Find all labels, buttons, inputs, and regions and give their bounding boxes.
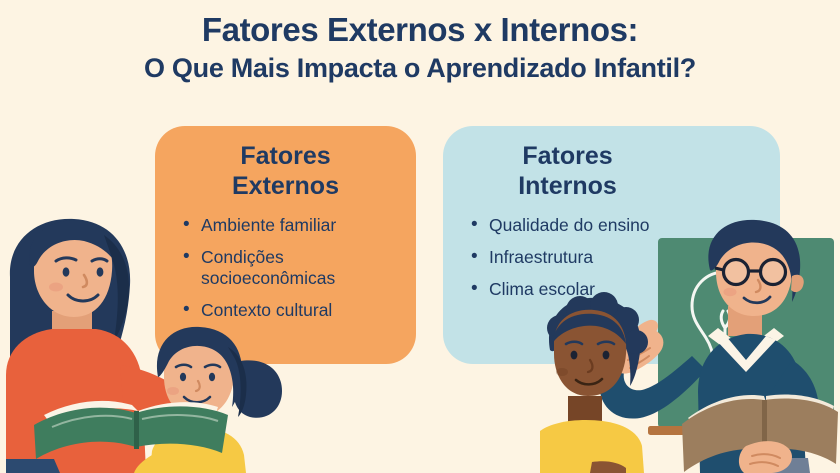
title-line-1: Fatores Externos x Internos: bbox=[0, 12, 840, 48]
card-externos-heading-line2: Externos bbox=[155, 172, 416, 202]
card-internos-heading: Fatores Internos bbox=[443, 126, 780, 201]
card-internos-heading-line2: Internos bbox=[443, 172, 692, 202]
card-externos-heading: Fatores Externos bbox=[155, 126, 416, 201]
boy-student-figure bbox=[540, 292, 648, 473]
title-line-2: O Que Mais Impacta o Aprendizado Infanti… bbox=[0, 53, 840, 84]
illustration-mother-and-girl-reading bbox=[0, 215, 330, 473]
page-title: Fatores Externos x Internos: O Que Mais … bbox=[0, 12, 840, 84]
infographic-canvas: Fatores Externos x Internos: O Que Mais … bbox=[0, 0, 840, 473]
card-internos-heading-line1: Fatores bbox=[443, 142, 692, 172]
illustration-teacher-and-boy bbox=[540, 210, 840, 473]
card-externos-heading-line1: Fatores bbox=[155, 142, 416, 172]
